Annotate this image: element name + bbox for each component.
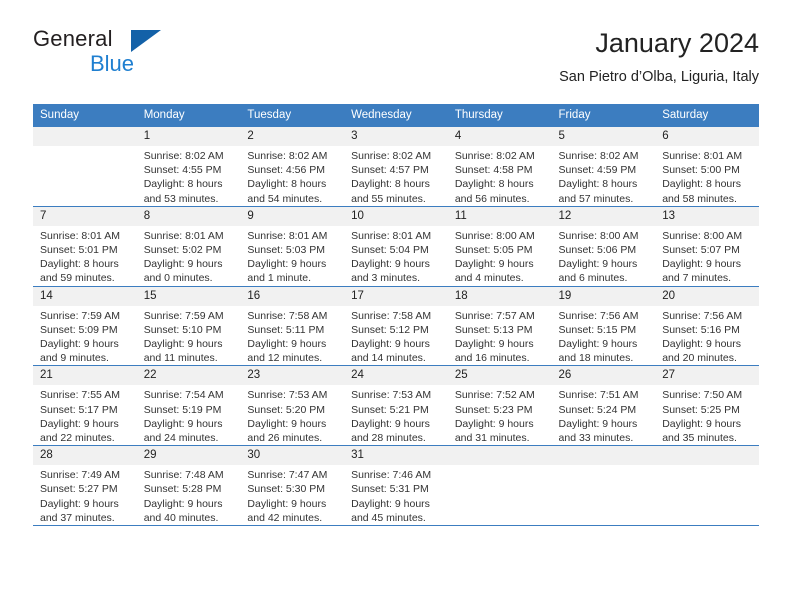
daylight-text-line1: Daylight: 9 hours: [247, 497, 339, 511]
sunrise-text: Sunrise: 8:01 AM: [662, 149, 754, 163]
sunrise-text: Sunrise: 7:57 AM: [455, 309, 547, 323]
day-details: Sunrise: 7:49 AMSunset: 5:27 PMDaylight:…: [33, 465, 137, 525]
sunset-text: Sunset: 5:21 PM: [351, 403, 443, 417]
calendar-day-cell[interactable]: 22Sunrise: 7:54 AMSunset: 5:19 PMDayligh…: [137, 366, 241, 446]
daylight-text-line2: and 59 minutes.: [40, 271, 132, 285]
calendar-day-cell[interactable]: 31Sunrise: 7:46 AMSunset: 5:31 PMDayligh…: [344, 446, 448, 526]
sunset-text: Sunset: 5:25 PM: [662, 403, 754, 417]
daylight-text-line1: Daylight: 9 hours: [247, 337, 339, 351]
day-details: [33, 146, 137, 149]
daylight-text-line1: Daylight: 8 hours: [40, 257, 132, 271]
daylight-text-line2: and 11 minutes.: [144, 351, 236, 365]
sunrise-text: Sunrise: 8:00 AM: [455, 229, 547, 243]
day-number: 1: [137, 127, 241, 146]
day-details: Sunrise: 7:54 AMSunset: 5:19 PMDaylight:…: [137, 385, 241, 445]
daylight-text-line2: and 28 minutes.: [351, 431, 443, 445]
sunrise-text: Sunrise: 8:01 AM: [40, 229, 132, 243]
daylight-text-line1: Daylight: 9 hours: [144, 417, 236, 431]
day-details: Sunrise: 8:01 AMSunset: 5:01 PMDaylight:…: [33, 226, 137, 286]
sunrise-text: Sunrise: 7:46 AM: [351, 468, 443, 482]
day-number: 18: [448, 287, 552, 306]
daylight-text-line2: and 35 minutes.: [662, 431, 754, 445]
calendar-week-row: 7Sunrise: 8:01 AMSunset: 5:01 PMDaylight…: [33, 206, 759, 286]
calendar-day-cell[interactable]: 21Sunrise: 7:55 AMSunset: 5:17 PMDayligh…: [33, 366, 137, 446]
daylight-text-line1: Daylight: 9 hours: [351, 337, 443, 351]
page-title: January 2024: [559, 26, 759, 60]
daylight-text-line2: and 42 minutes.: [247, 511, 339, 525]
daylight-text-line2: and 40 minutes.: [144, 511, 236, 525]
day-number: 30: [240, 446, 344, 465]
sunset-text: Sunset: 5:11 PM: [247, 323, 339, 337]
sunrise-text: Sunrise: 7:50 AM: [662, 388, 754, 402]
day-details: Sunrise: 7:56 AMSunset: 5:15 PMDaylight:…: [552, 306, 656, 366]
sunrise-text: Sunrise: 7:49 AM: [40, 468, 132, 482]
daylight-text-line2: and 7 minutes.: [662, 271, 754, 285]
page-header: General Blue January 2024 San Pietro d’O…: [33, 26, 759, 96]
day-details: Sunrise: 7:51 AMSunset: 5:24 PMDaylight:…: [552, 385, 656, 445]
daylight-text-line1: Daylight: 8 hours: [662, 177, 754, 191]
calendar-day-cell[interactable]: 2Sunrise: 8:02 AMSunset: 4:56 PMDaylight…: [240, 127, 344, 207]
daylight-text-line1: Daylight: 8 hours: [559, 177, 651, 191]
sunset-text: Sunset: 5:03 PM: [247, 243, 339, 257]
sunrise-text: Sunrise: 7:53 AM: [247, 388, 339, 402]
day-number: 20: [655, 287, 759, 306]
calendar-day-cell-empty: [33, 127, 137, 207]
daylight-text-line1: Daylight: 8 hours: [247, 177, 339, 191]
calendar-day-cell[interactable]: 7Sunrise: 8:01 AMSunset: 5:01 PMDaylight…: [33, 206, 137, 286]
sunset-text: Sunset: 4:59 PM: [559, 163, 651, 177]
day-number: 16: [240, 287, 344, 306]
day-details: Sunrise: 7:57 AMSunset: 5:13 PMDaylight:…: [448, 306, 552, 366]
calendar-header-row: Sunday Monday Tuesday Wednesday Thursday…: [33, 104, 759, 127]
daylight-text-line1: Daylight: 9 hours: [40, 337, 132, 351]
day-details: Sunrise: 8:02 AMSunset: 4:56 PMDaylight:…: [240, 146, 344, 206]
day-details: Sunrise: 7:59 AMSunset: 5:09 PMDaylight:…: [33, 306, 137, 366]
sunrise-text: Sunrise: 8:02 AM: [144, 149, 236, 163]
sunrise-text: Sunrise: 7:51 AM: [559, 388, 651, 402]
sunrise-text: Sunrise: 8:01 AM: [144, 229, 236, 243]
sunrise-text: Sunrise: 8:02 AM: [351, 149, 443, 163]
daylight-text-line2: and 4 minutes.: [455, 271, 547, 285]
page-subtitle: San Pietro d’Olba, Liguria, Italy: [559, 66, 759, 88]
day-details: Sunrise: 8:00 AMSunset: 5:07 PMDaylight:…: [655, 226, 759, 286]
day-details: Sunrise: 8:00 AMSunset: 5:06 PMDaylight:…: [552, 226, 656, 286]
day-number: 27: [655, 366, 759, 385]
weekday-header-tuesday: Tuesday: [240, 104, 344, 127]
daylight-text-line1: Daylight: 9 hours: [40, 497, 132, 511]
day-number: [552, 446, 656, 465]
sunset-text: Sunset: 4:58 PM: [455, 163, 547, 177]
logo-triangle-icon: [131, 30, 161, 52]
day-details: Sunrise: 7:50 AMSunset: 5:25 PMDaylight:…: [655, 385, 759, 445]
sunrise-text: Sunrise: 7:48 AM: [144, 468, 236, 482]
calendar-day-cell[interactable]: 9Sunrise: 8:01 AMSunset: 5:03 PMDaylight…: [240, 206, 344, 286]
day-details: Sunrise: 7:58 AMSunset: 5:12 PMDaylight:…: [344, 306, 448, 366]
daylight-text-line2: and 1 minute.: [247, 271, 339, 285]
daylight-text-line1: Daylight: 9 hours: [662, 337, 754, 351]
sunrise-text: Sunrise: 8:00 AM: [662, 229, 754, 243]
day-details: [655, 465, 759, 468]
daylight-text-line2: and 18 minutes.: [559, 351, 651, 365]
day-number: 22: [137, 366, 241, 385]
daylight-text-line2: and 6 minutes.: [559, 271, 651, 285]
daylight-text-line2: and 20 minutes.: [662, 351, 754, 365]
calendar-day-cell[interactable]: 18Sunrise: 7:57 AMSunset: 5:13 PMDayligh…: [448, 286, 552, 366]
daylight-text-line2: and 0 minutes.: [144, 271, 236, 285]
sunrise-text: Sunrise: 7:55 AM: [40, 388, 132, 402]
sunset-text: Sunset: 5:20 PM: [247, 403, 339, 417]
daylight-text-line1: Daylight: 9 hours: [455, 257, 547, 271]
calendar-day-cell[interactable]: 28Sunrise: 7:49 AMSunset: 5:27 PMDayligh…: [33, 446, 137, 526]
daylight-text-line1: Daylight: 9 hours: [662, 417, 754, 431]
sunset-text: Sunset: 5:17 PM: [40, 403, 132, 417]
day-number: 7: [33, 207, 137, 226]
daylight-text-line1: Daylight: 9 hours: [247, 417, 339, 431]
day-number: 13: [655, 207, 759, 226]
daylight-text-line1: Daylight: 9 hours: [662, 257, 754, 271]
sunset-text: Sunset: 5:31 PM: [351, 482, 443, 496]
sunrise-text: Sunrise: 7:54 AM: [144, 388, 236, 402]
calendar-day-cell[interactable]: 5Sunrise: 8:02 AMSunset: 4:59 PMDaylight…: [552, 127, 656, 207]
sunrise-text: Sunrise: 8:00 AM: [559, 229, 651, 243]
daylight-text-line1: Daylight: 9 hours: [40, 417, 132, 431]
calendar-day-cell[interactable]: 3Sunrise: 8:02 AMSunset: 4:57 PMDaylight…: [344, 127, 448, 207]
sunset-text: Sunset: 5:13 PM: [455, 323, 547, 337]
sunrise-text: Sunrise: 7:59 AM: [144, 309, 236, 323]
sunrise-text: Sunrise: 7:59 AM: [40, 309, 132, 323]
calendar-week-row: 21Sunrise: 7:55 AMSunset: 5:17 PMDayligh…: [33, 366, 759, 446]
daylight-text-line1: Daylight: 8 hours: [455, 177, 547, 191]
calendar-day-cell[interactable]: 25Sunrise: 7:52 AMSunset: 5:23 PMDayligh…: [448, 366, 552, 446]
daylight-text-line2: and 58 minutes.: [662, 192, 754, 206]
sunset-text: Sunset: 5:19 PM: [144, 403, 236, 417]
daylight-text-line2: and 16 minutes.: [455, 351, 547, 365]
sunset-text: Sunset: 5:16 PM: [662, 323, 754, 337]
daylight-text-line1: Daylight: 9 hours: [351, 497, 443, 511]
calendar-week-row: 14Sunrise: 7:59 AMSunset: 5:09 PMDayligh…: [33, 286, 759, 366]
day-number: 14: [33, 287, 137, 306]
sunset-text: Sunset: 5:01 PM: [40, 243, 132, 257]
sunrise-text: Sunrise: 7:47 AM: [247, 468, 339, 482]
day-number: 24: [344, 366, 448, 385]
sunset-text: Sunset: 5:07 PM: [662, 243, 754, 257]
sunrise-text: Sunrise: 7:52 AM: [455, 388, 547, 402]
weekday-header-monday: Monday: [137, 104, 241, 127]
sunset-text: Sunset: 4:55 PM: [144, 163, 236, 177]
day-number: 12: [552, 207, 656, 226]
sunset-text: Sunset: 5:04 PM: [351, 243, 443, 257]
daylight-text-line2: and 33 minutes.: [559, 431, 651, 445]
sunset-text: Sunset: 5:24 PM: [559, 403, 651, 417]
calendar-table: Sunday Monday Tuesday Wednesday Thursday…: [33, 104, 759, 526]
day-details: Sunrise: 7:58 AMSunset: 5:11 PMDaylight:…: [240, 306, 344, 366]
day-number: 26: [552, 366, 656, 385]
day-number: 9: [240, 207, 344, 226]
logo-text-general: General: [33, 26, 113, 52]
calendar-day-cell[interactable]: 14Sunrise: 7:59 AMSunset: 5:09 PMDayligh…: [33, 286, 137, 366]
calendar-day-cell[interactable]: 23Sunrise: 7:53 AMSunset: 5:20 PMDayligh…: [240, 366, 344, 446]
day-number: 4: [448, 127, 552, 146]
calendar-day-cell[interactable]: 6Sunrise: 8:01 AMSunset: 5:00 PMDaylight…: [655, 127, 759, 207]
day-number: 15: [137, 287, 241, 306]
day-number: 6: [655, 127, 759, 146]
calendar-day-cell-empty: [655, 446, 759, 526]
calendar-week-row: 1Sunrise: 8:02 AMSunset: 4:55 PMDaylight…: [33, 127, 759, 207]
sunrise-text: Sunrise: 8:01 AM: [247, 229, 339, 243]
daylight-text-line1: Daylight: 9 hours: [559, 257, 651, 271]
daylight-text-line1: Daylight: 9 hours: [144, 497, 236, 511]
calendar-day-cell[interactable]: 20Sunrise: 7:56 AMSunset: 5:16 PMDayligh…: [655, 286, 759, 366]
sunrise-text: Sunrise: 7:53 AM: [351, 388, 443, 402]
calendar-body: 1Sunrise: 8:02 AMSunset: 4:55 PMDaylight…: [33, 127, 759, 526]
daylight-text-line2: and 22 minutes.: [40, 431, 132, 445]
daylight-text-line2: and 9 minutes.: [40, 351, 132, 365]
day-details: Sunrise: 7:53 AMSunset: 5:20 PMDaylight:…: [240, 385, 344, 445]
day-number: 31: [344, 446, 448, 465]
title-block: January 2024 San Pietro d’Olba, Liguria,…: [559, 26, 759, 88]
day-number: 5: [552, 127, 656, 146]
day-number: 19: [552, 287, 656, 306]
daylight-text-line1: Daylight: 9 hours: [144, 337, 236, 351]
day-details: Sunrise: 7:52 AMSunset: 5:23 PMDaylight:…: [448, 385, 552, 445]
daylight-text-line1: Daylight: 9 hours: [351, 417, 443, 431]
sunrise-text: Sunrise: 8:02 AM: [247, 149, 339, 163]
calendar-day-cell[interactable]: 17Sunrise: 7:58 AMSunset: 5:12 PMDayligh…: [344, 286, 448, 366]
calendar-day-cell[interactable]: 27Sunrise: 7:50 AMSunset: 5:25 PMDayligh…: [655, 366, 759, 446]
day-details: [552, 465, 656, 468]
sunrise-text: Sunrise: 7:56 AM: [662, 309, 754, 323]
day-number: 3: [344, 127, 448, 146]
day-number: 10: [344, 207, 448, 226]
day-details: Sunrise: 8:02 AMSunset: 4:58 PMDaylight:…: [448, 146, 552, 206]
calendar-day-cell[interactable]: 15Sunrise: 7:59 AMSunset: 5:10 PMDayligh…: [137, 286, 241, 366]
sunset-text: Sunset: 5:05 PM: [455, 243, 547, 257]
daylight-text-line2: and 26 minutes.: [247, 431, 339, 445]
daylight-text-line2: and 57 minutes.: [559, 192, 651, 206]
day-details: Sunrise: 8:02 AMSunset: 4:59 PMDaylight:…: [552, 146, 656, 206]
day-details: Sunrise: 8:00 AMSunset: 5:05 PMDaylight:…: [448, 226, 552, 286]
calendar-day-cell[interactable]: 29Sunrise: 7:48 AMSunset: 5:28 PMDayligh…: [137, 446, 241, 526]
calendar-day-cell[interactable]: 16Sunrise: 7:58 AMSunset: 5:11 PMDayligh…: [240, 286, 344, 366]
weekday-header-saturday: Saturday: [655, 104, 759, 127]
daylight-text-line1: Daylight: 9 hours: [455, 417, 547, 431]
daylight-text-line1: Daylight: 8 hours: [144, 177, 236, 191]
sunset-text: Sunset: 5:30 PM: [247, 482, 339, 496]
day-details: Sunrise: 8:01 AMSunset: 5:02 PMDaylight:…: [137, 226, 241, 286]
calendar-day-cell[interactable]: 30Sunrise: 7:47 AMSunset: 5:30 PMDayligh…: [240, 446, 344, 526]
weekday-header-thursday: Thursday: [448, 104, 552, 127]
day-number: 23: [240, 366, 344, 385]
calendar-day-cell[interactable]: 1Sunrise: 8:02 AMSunset: 4:55 PMDaylight…: [137, 127, 241, 207]
day-details: Sunrise: 8:02 AMSunset: 4:55 PMDaylight:…: [137, 146, 241, 206]
weekday-header-sunday: Sunday: [33, 104, 137, 127]
daylight-text-line1: Daylight: 9 hours: [144, 257, 236, 271]
daylight-text-line2: and 55 minutes.: [351, 192, 443, 206]
day-details: Sunrise: 7:48 AMSunset: 5:28 PMDaylight:…: [137, 465, 241, 525]
sunrise-text: Sunrise: 8:02 AM: [559, 149, 651, 163]
daylight-text-line1: Daylight: 9 hours: [247, 257, 339, 271]
daylight-text-line1: Daylight: 9 hours: [559, 337, 651, 351]
sunset-text: Sunset: 5:00 PM: [662, 163, 754, 177]
day-details: Sunrise: 8:01 AMSunset: 5:00 PMDaylight:…: [655, 146, 759, 206]
daylight-text-line2: and 54 minutes.: [247, 192, 339, 206]
daylight-text-line2: and 56 minutes.: [455, 192, 547, 206]
sunset-text: Sunset: 5:06 PM: [559, 243, 651, 257]
calendar-week-row: 28Sunrise: 7:49 AMSunset: 5:27 PMDayligh…: [33, 446, 759, 526]
calendar-page: General Blue January 2024 San Pietro d’O…: [0, 0, 792, 612]
day-number: [655, 446, 759, 465]
day-details: Sunrise: 7:59 AMSunset: 5:10 PMDaylight:…: [137, 306, 241, 366]
sunset-text: Sunset: 5:10 PM: [144, 323, 236, 337]
sunset-text: Sunset: 4:57 PM: [351, 163, 443, 177]
sunrise-text: Sunrise: 8:02 AM: [455, 149, 547, 163]
logo-text-blue: Blue: [90, 51, 134, 77]
day-number: 17: [344, 287, 448, 306]
daylight-text-line1: Daylight: 9 hours: [559, 417, 651, 431]
day-details: Sunrise: 7:53 AMSunset: 5:21 PMDaylight:…: [344, 385, 448, 445]
calendar-day-cell[interactable]: 10Sunrise: 8:01 AMSunset: 5:04 PMDayligh…: [344, 206, 448, 286]
day-details: [448, 465, 552, 468]
calendar-day-cell-empty: [552, 446, 656, 526]
daylight-text-line2: and 53 minutes.: [144, 192, 236, 206]
sunset-text: Sunset: 5:28 PM: [144, 482, 236, 496]
day-number: 21: [33, 366, 137, 385]
sunrise-text: Sunrise: 7:56 AM: [559, 309, 651, 323]
sunset-text: Sunset: 5:27 PM: [40, 482, 132, 496]
day-number: 2: [240, 127, 344, 146]
calendar-day-cell[interactable]: 8Sunrise: 8:01 AMSunset: 5:02 PMDaylight…: [137, 206, 241, 286]
calendar-day-cell-empty: [448, 446, 552, 526]
calendar-day-cell[interactable]: 4Sunrise: 8:02 AMSunset: 4:58 PMDaylight…: [448, 127, 552, 207]
day-number: 29: [137, 446, 241, 465]
sunset-text: Sunset: 4:56 PM: [247, 163, 339, 177]
daylight-text-line2: and 24 minutes.: [144, 431, 236, 445]
daylight-text-line1: Daylight: 9 hours: [351, 257, 443, 271]
day-number: 11: [448, 207, 552, 226]
daylight-text-line2: and 45 minutes.: [351, 511, 443, 525]
day-number: [33, 127, 137, 146]
sunset-text: Sunset: 5:02 PM: [144, 243, 236, 257]
weekday-header-friday: Friday: [552, 104, 656, 127]
day-details: Sunrise: 7:56 AMSunset: 5:16 PMDaylight:…: [655, 306, 759, 366]
day-details: Sunrise: 7:46 AMSunset: 5:31 PMDaylight:…: [344, 465, 448, 525]
daylight-text-line2: and 3 minutes.: [351, 271, 443, 285]
day-number: [448, 446, 552, 465]
day-number: 8: [137, 207, 241, 226]
calendar-day-cell[interactable]: 19Sunrise: 7:56 AMSunset: 5:15 PMDayligh…: [552, 286, 656, 366]
calendar-day-cell[interactable]: 12Sunrise: 8:00 AMSunset: 5:06 PMDayligh…: [552, 206, 656, 286]
calendar-day-cell[interactable]: 13Sunrise: 8:00 AMSunset: 5:07 PMDayligh…: [655, 206, 759, 286]
daylight-text-line1: Daylight: 8 hours: [351, 177, 443, 191]
daylight-text-line1: Daylight: 9 hours: [455, 337, 547, 351]
daylight-text-line2: and 31 minutes.: [455, 431, 547, 445]
weekday-header-wednesday: Wednesday: [344, 104, 448, 127]
day-details: Sunrise: 8:02 AMSunset: 4:57 PMDaylight:…: [344, 146, 448, 206]
day-number: 28: [33, 446, 137, 465]
day-details: Sunrise: 8:01 AMSunset: 5:03 PMDaylight:…: [240, 226, 344, 286]
sunset-text: Sunset: 5:23 PM: [455, 403, 547, 417]
calendar-day-cell[interactable]: 11Sunrise: 8:00 AMSunset: 5:05 PMDayligh…: [448, 206, 552, 286]
daylight-text-line2: and 12 minutes.: [247, 351, 339, 365]
sunrise-text: Sunrise: 7:58 AM: [247, 309, 339, 323]
sunrise-text: Sunrise: 8:01 AM: [351, 229, 443, 243]
sunrise-text: Sunrise: 7:58 AM: [351, 309, 443, 323]
sunset-text: Sunset: 5:09 PM: [40, 323, 132, 337]
day-details: Sunrise: 7:55 AMSunset: 5:17 PMDaylight:…: [33, 385, 137, 445]
day-details: Sunrise: 7:47 AMSunset: 5:30 PMDaylight:…: [240, 465, 344, 525]
daylight-text-line2: and 37 minutes.: [40, 511, 132, 525]
calendar-day-cell[interactable]: 24Sunrise: 7:53 AMSunset: 5:21 PMDayligh…: [344, 366, 448, 446]
sunset-text: Sunset: 5:15 PM: [559, 323, 651, 337]
day-details: Sunrise: 8:01 AMSunset: 5:04 PMDaylight:…: [344, 226, 448, 286]
calendar-day-cell[interactable]: 26Sunrise: 7:51 AMSunset: 5:24 PMDayligh…: [552, 366, 656, 446]
daylight-text-line2: and 14 minutes.: [351, 351, 443, 365]
day-number: 25: [448, 366, 552, 385]
general-blue-logo[interactable]: General Blue: [33, 26, 233, 86]
sunset-text: Sunset: 5:12 PM: [351, 323, 443, 337]
